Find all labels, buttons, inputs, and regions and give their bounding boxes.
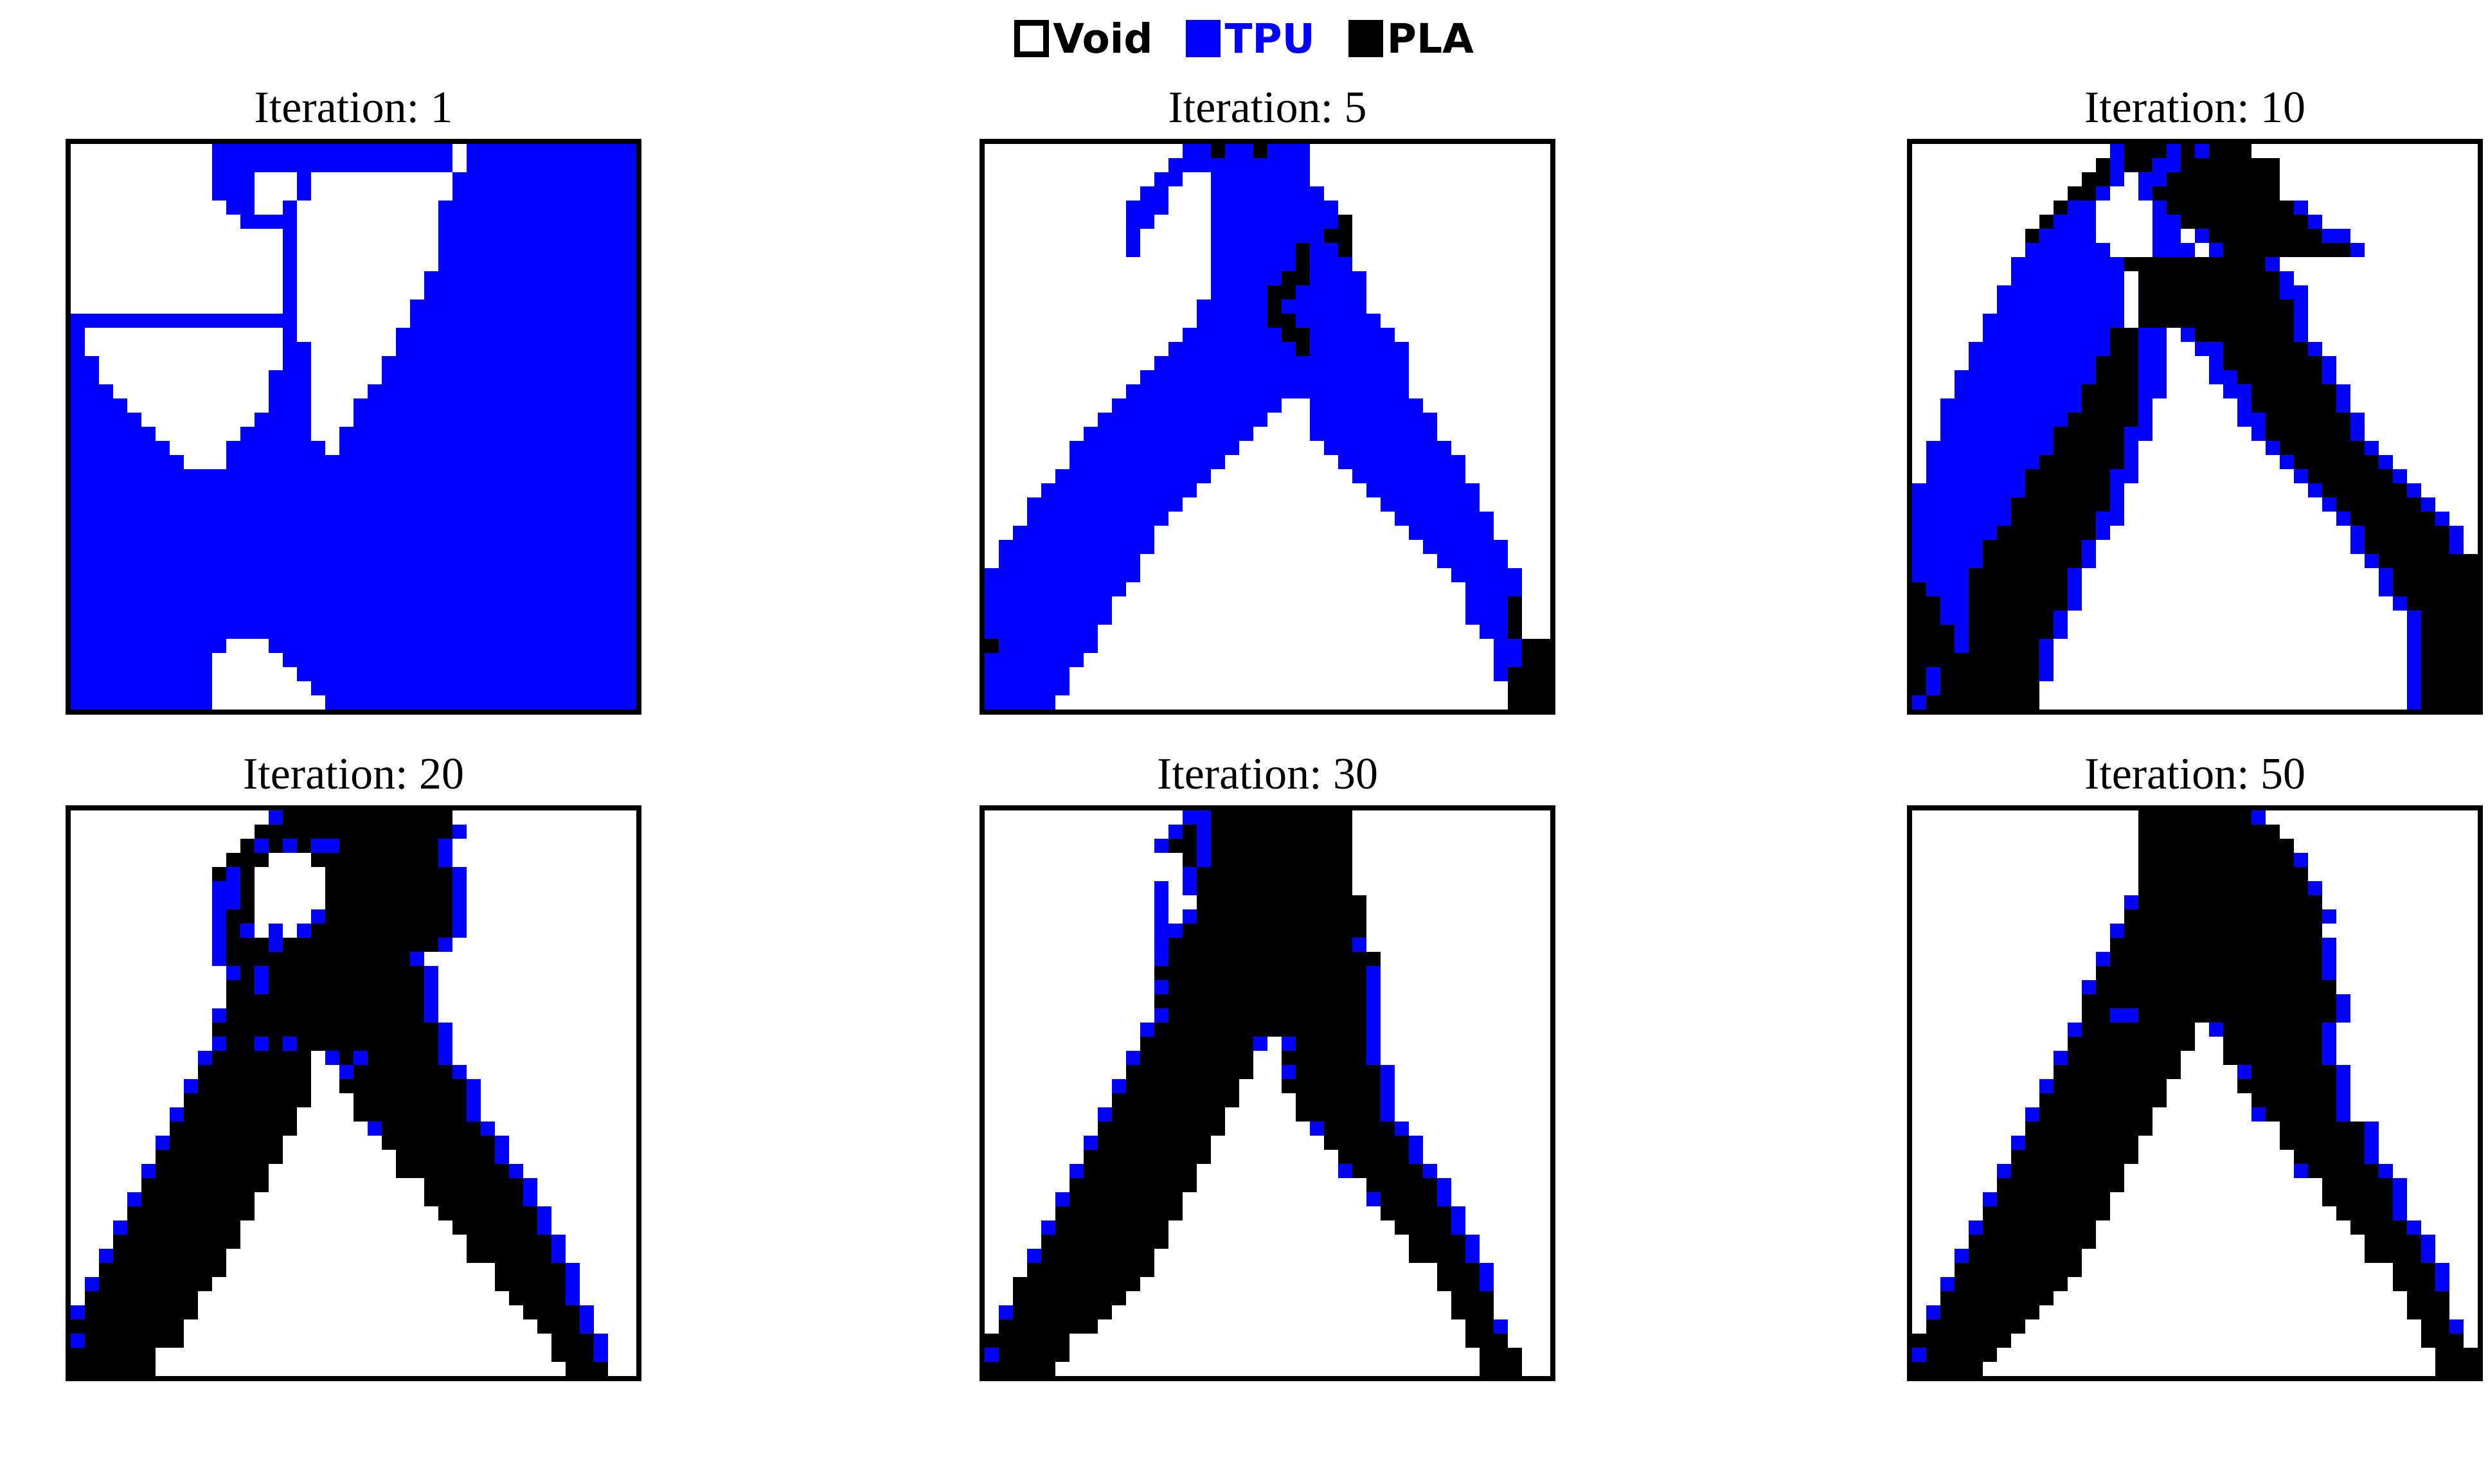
panel-frame-iteration-5 xyxy=(980,139,1555,715)
panel-iteration-50: Iteration: 50 xyxy=(1841,744,2488,1399)
panel-title-iteration-30: Iteration: 30 xyxy=(914,744,1621,805)
legend-entry-tpu: TPU xyxy=(1186,19,1314,59)
panel-title-iteration-5: Iteration: 5 xyxy=(914,77,1621,139)
panel-frame-iteration-50 xyxy=(1907,805,2483,1381)
material-legend: Void TPU PLA xyxy=(0,0,2488,77)
panel-iteration-30: Iteration: 30 xyxy=(914,744,1621,1399)
panel-iteration-5: Iteration: 5 xyxy=(914,77,1621,733)
topology-canvas-iter-20 xyxy=(71,810,636,1376)
legend-label-tpu: TPU xyxy=(1224,19,1314,59)
panel-title-iteration-50: Iteration: 50 xyxy=(1841,744,2488,805)
panel-iteration-10: Iteration: 10 xyxy=(1841,77,2488,733)
legend-label-void: Void xyxy=(1053,19,1152,59)
panel-iteration-20: Iteration: 20 xyxy=(0,744,707,1399)
panel-grid: Iteration: 1 Iteration: 5 Iteration: 10 … xyxy=(0,77,2488,1484)
topology-canvas-iter-50 xyxy=(1912,810,2478,1376)
panel-title-iteration-1: Iteration: 1 xyxy=(0,77,707,139)
topology-canvas-iter-1 xyxy=(71,144,636,710)
legend-entry-pla: PLA xyxy=(1348,19,1474,59)
panel-iteration-1: Iteration: 1 xyxy=(0,77,707,733)
panel-title-iteration-20: Iteration: 20 xyxy=(0,744,707,805)
void-swatch-icon xyxy=(1014,20,1049,57)
pla-swatch-icon xyxy=(1348,20,1383,57)
panel-frame-iteration-20 xyxy=(66,805,641,1381)
tpu-swatch-icon xyxy=(1186,20,1221,57)
topology-canvas-iter-10 xyxy=(1912,144,2478,710)
legend-label-pla: PLA xyxy=(1387,19,1474,59)
topology-canvas-iter-30 xyxy=(985,810,1550,1376)
panel-frame-iteration-30 xyxy=(980,805,1555,1381)
panel-frame-iteration-1 xyxy=(66,139,641,715)
legend-entry-void: Void xyxy=(1014,19,1152,59)
panel-title-iteration-10: Iteration: 10 xyxy=(1841,77,2488,139)
topology-canvas-iter-5 xyxy=(985,144,1550,710)
panel-frame-iteration-10 xyxy=(1907,139,2483,715)
